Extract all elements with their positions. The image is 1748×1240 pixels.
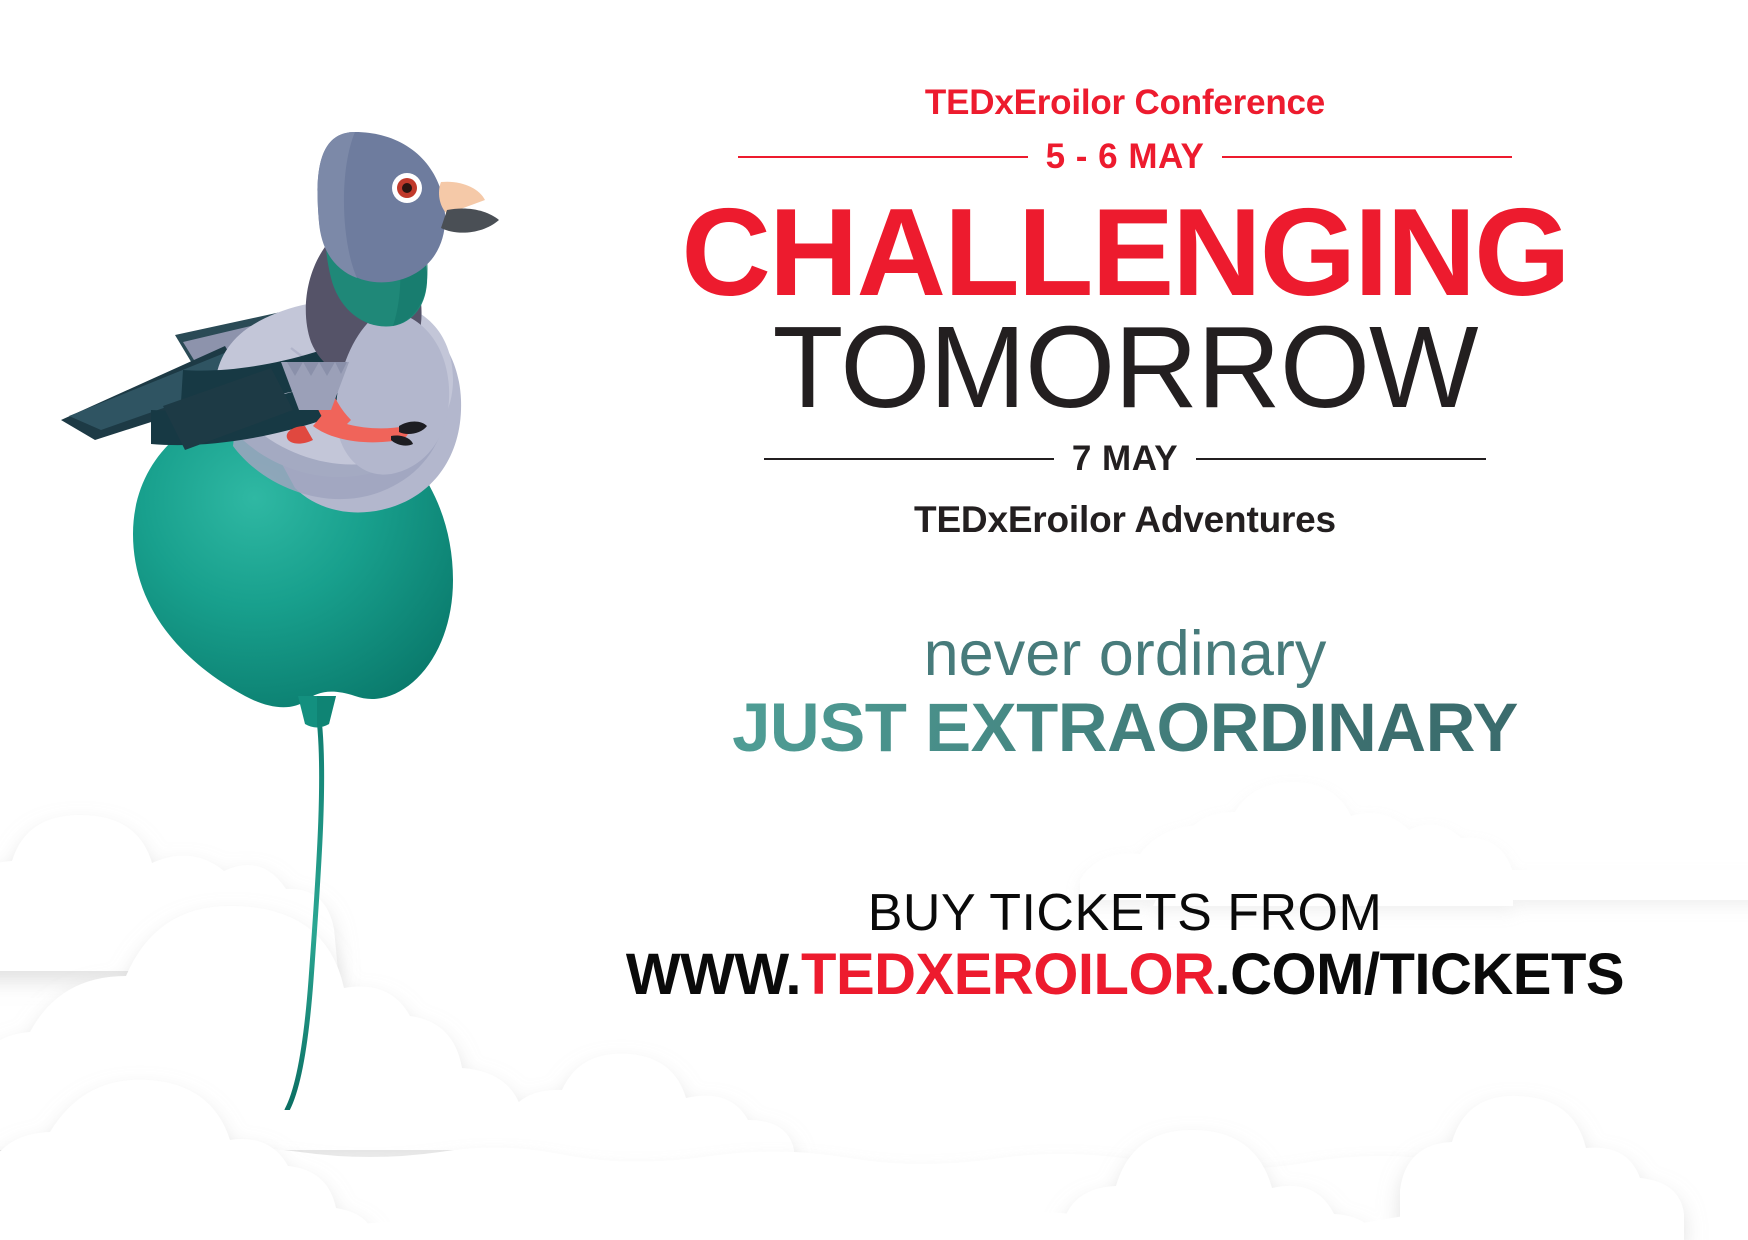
conference-date-row: 5 - 6 MAY [560, 137, 1690, 177]
conference-dates: 5 - 6 MAY [1046, 137, 1205, 177]
poster-canvas: TEDxEroilor Conference 5 - 6 MAY CHALLEN… [0, 0, 1748, 1240]
tickets-url[interactable]: WWW.TEDXEROILOR.COM/TICKETS [560, 945, 1690, 1006]
conference-title: TEDxEroilor Conference [560, 84, 1690, 123]
tagline-just-extraordinary: JUST EXTRAORDINARY [560, 692, 1690, 764]
divider-rule-left-dark [764, 458, 1054, 460]
pigeon [61, 132, 499, 512]
balloon-string [287, 705, 322, 1110]
headline-challenging: CHALLENGING [560, 191, 1690, 315]
adventures-title: TEDxEroilor Adventures [560, 499, 1690, 541]
pigeon-eye [392, 173, 422, 203]
pigeon-on-balloon-illustration [55, 110, 525, 1110]
divider-rule-right-dark [1196, 458, 1486, 460]
divider-rule-left-red [738, 156, 1028, 158]
headline-tomorrow: TOMORROW [560, 309, 1690, 425]
adventures-date-row: 7 MAY [560, 439, 1690, 479]
adventures-date: 7 MAY [1072, 439, 1178, 479]
divider-rule-right-red [1222, 156, 1512, 158]
buy-tickets-label: BUY TICKETS FROM [560, 886, 1690, 941]
url-prefix: WWW. [626, 942, 801, 1007]
url-suffix: .COM/TICKETS [1214, 942, 1624, 1007]
url-brand: TEDXEROILOR [801, 942, 1214, 1007]
tagline-never-ordinary: never ordinary [560, 623, 1690, 686]
poster-text-column: TEDxEroilor Conference 5 - 6 MAY CHALLEN… [560, 0, 1690, 1240]
